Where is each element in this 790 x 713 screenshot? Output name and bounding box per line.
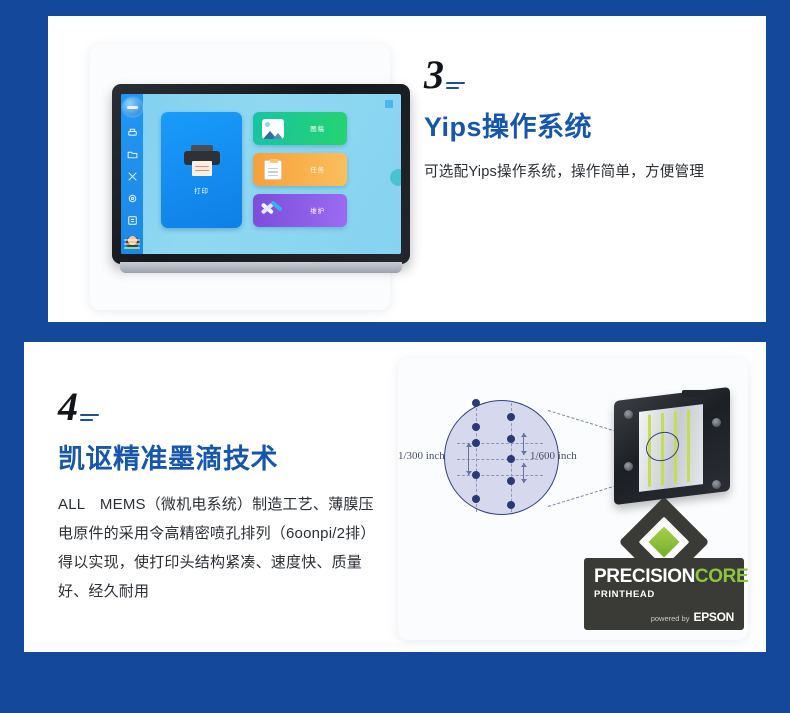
logo-brand-epson: EPSON [693, 610, 734, 624]
col-spacing-arrow-bottom [523, 463, 524, 483]
nozzle-dot [507, 435, 515, 443]
list-icon[interactable] [126, 214, 139, 227]
precisioncore-wordmark: PRECISIONCORE PRINTHEAD powered byEPSON [584, 558, 744, 630]
feature-3-heading: Yips操作系统 [424, 105, 742, 144]
label-row-spacing: 1/300 inch [398, 450, 445, 462]
nozzle-dot [507, 501, 515, 509]
image-icon [262, 119, 284, 139]
feature-card-4: 4 凯讴精准墨滴技术 ALL MEMS（微机电系统）制造工艺、薄膜压电原件的采用… [24, 342, 766, 652]
tablet-screen: 打印 图稿 任务 [121, 94, 401, 254]
wrench-screwdriver-icon [262, 201, 284, 221]
feature-3-text: 3 Yips操作系统 可选配Yips操作系统，操作简单，方便管理 [424, 52, 742, 186]
nozzle-dot [507, 477, 515, 485]
col-spacing-arrow-top [523, 433, 524, 455]
nozzle-dot [472, 399, 480, 407]
printhead-device [608, 388, 736, 508]
clipboard-icon [262, 160, 284, 180]
screw-icon [712, 480, 721, 489]
folder-icon[interactable] [126, 148, 139, 161]
nozzle-dot [507, 455, 515, 463]
tile-print-label: 打印 [194, 186, 209, 195]
tile-task-label: 任务 [310, 165, 325, 174]
row-spacing-arrow [468, 443, 469, 475]
tablet-illustration-panel: 打印 图稿 任务 [90, 44, 390, 310]
printhead-tab [682, 390, 708, 397]
precisioncore-logo: PRECISIONCORE PRINTHEAD powered byEPSON [584, 510, 744, 630]
target-icon[interactable] [126, 192, 139, 205]
tablet-home-screen: 打印 图稿 任务 [143, 94, 401, 254]
tile-artwork-label: 图稿 [310, 124, 325, 133]
tablet-device: 打印 图稿 任务 [112, 84, 410, 264]
printer-icon[interactable] [126, 126, 139, 139]
tile-print[interactable]: 打印 [161, 112, 242, 228]
number-accent-rules [446, 82, 465, 90]
feature-card-3: 打印 图稿 任务 [48, 16, 766, 322]
product-feature-page: 打印 图稿 任务 [0, 0, 790, 713]
tile-task[interactable]: 任务 [253, 153, 347, 186]
screw-icon [624, 462, 633, 471]
printer-icon [184, 145, 220, 177]
nozzle-diagram: 1/300 inch 1/600 inch [398, 358, 748, 640]
tile-artwork[interactable]: 图稿 [253, 112, 347, 145]
tile-maintenance-label: 维护 [310, 206, 325, 215]
tile-maintenance[interactable]: 维护 [253, 194, 347, 227]
feature-number: 4 [58, 388, 77, 426]
screen-bubble [390, 169, 401, 186]
feature-4-body: ALL MEMS（微机电系统）制造工艺、薄膜压电原件的采用令高精密喷孔排列（6o… [58, 490, 378, 606]
feature-4-heading: 凯讴精准墨滴技术 [58, 437, 378, 476]
nozzle-dot [472, 439, 480, 447]
screw-icon [624, 410, 633, 419]
logo-subtitle: PRINTHEAD [594, 589, 734, 600]
nozzle-dot [472, 495, 480, 503]
nozzle-dot [507, 413, 515, 421]
nozzle-dot [472, 423, 480, 431]
tablet-sidebar[interactable] [121, 94, 143, 254]
sidebar-status-indicator [124, 239, 140, 251]
label-col-spacing: 1/600 inch [530, 450, 577, 462]
tablet-stand [120, 262, 402, 273]
logo-powered-by: powered by [651, 614, 690, 623]
feature-4-number-row: 4 [58, 384, 378, 426]
feature-3-body: 可选配Yips操作系统，操作简单，方便管理 [424, 158, 742, 186]
feature-3-number-row: 3 [424, 52, 742, 94]
logo-word-precision: PRECISION [594, 566, 695, 587]
screen-corner-dot [385, 100, 393, 108]
logo-word-core: CORE [695, 566, 748, 587]
feature-4-text: 4 凯讴精准墨滴技术 ALL MEMS（微机电系统）制造工艺、薄膜压电原件的采用… [58, 384, 378, 606]
feature-number: 3 [424, 56, 443, 94]
number-accent-rules [80, 414, 99, 422]
tools-icon[interactable] [126, 170, 139, 183]
screw-icon [712, 418, 721, 427]
printhead-illustration-panel: 1/300 inch 1/600 inch [398, 358, 748, 640]
yips-logo-icon [123, 98, 142, 116]
nozzle-dot [472, 471, 480, 479]
